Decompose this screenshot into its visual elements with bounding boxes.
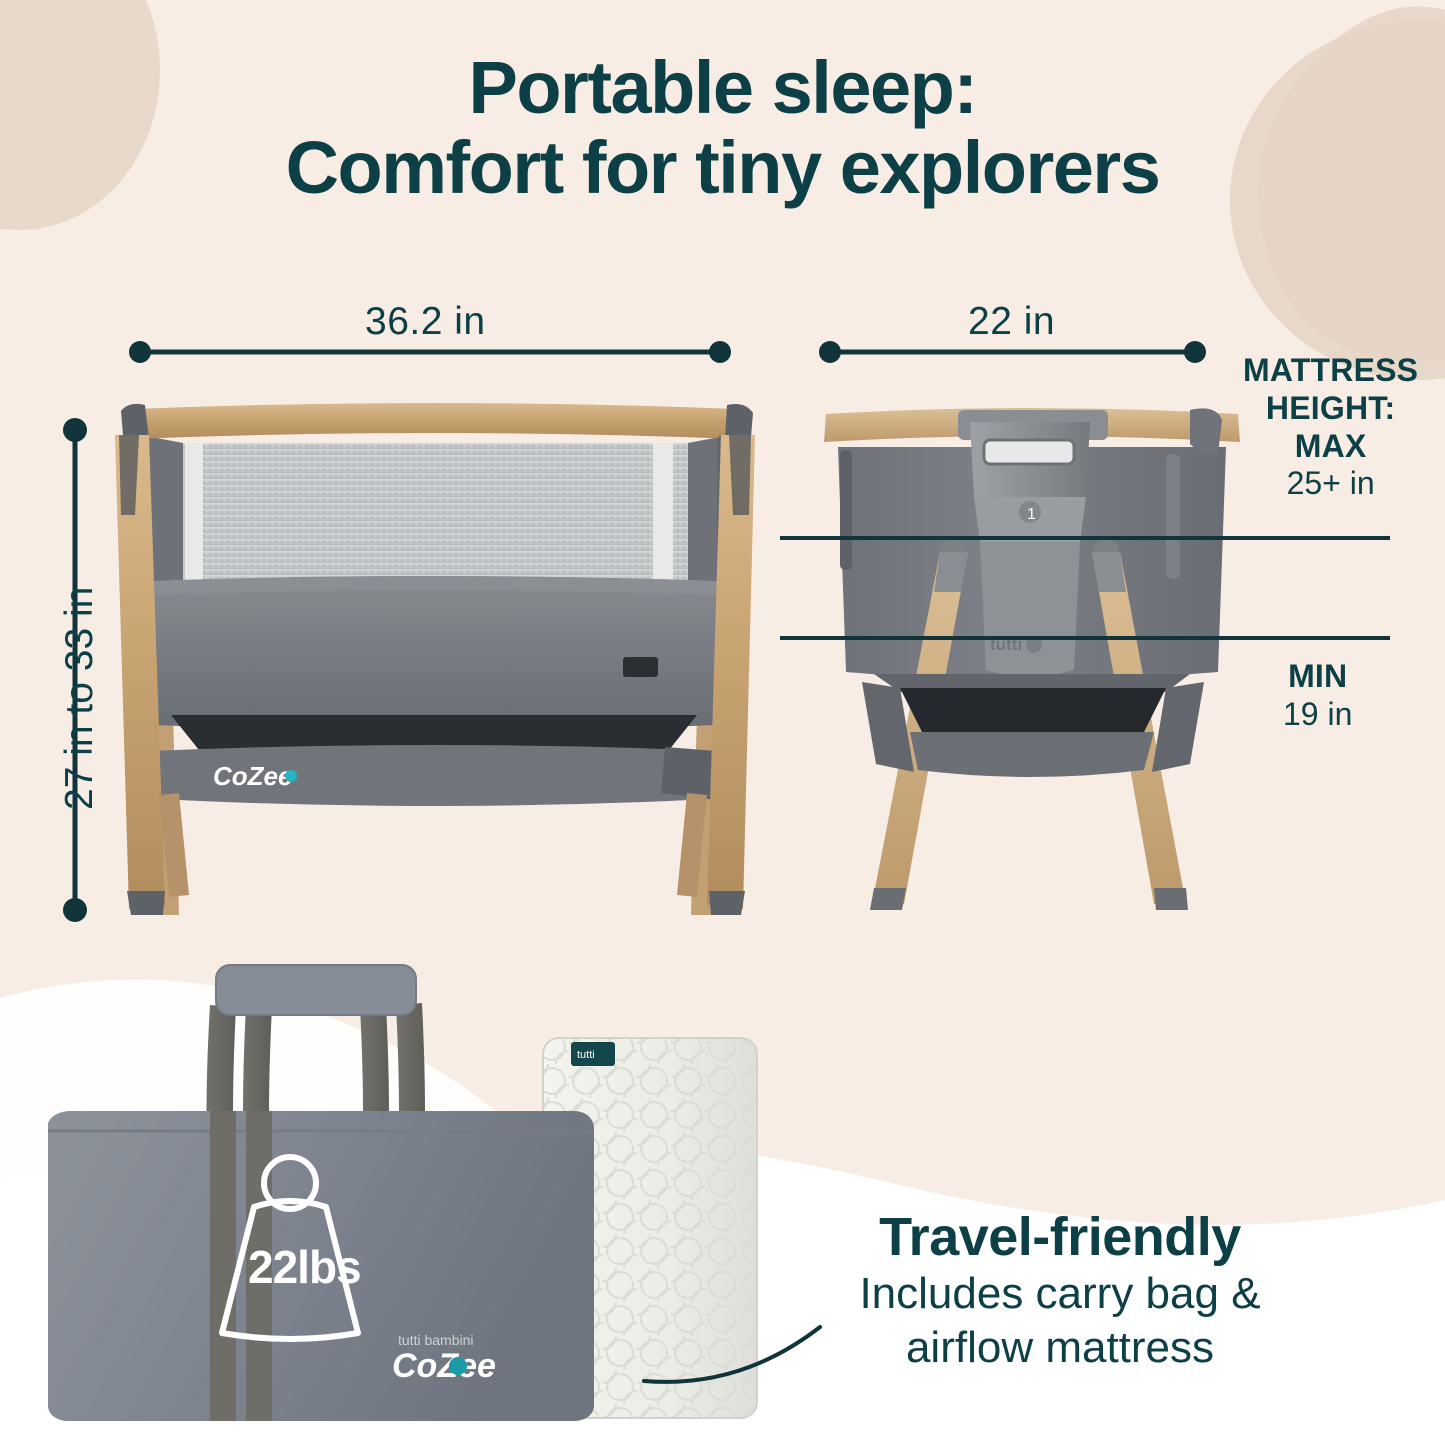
top-dimension-lines [0, 280, 1445, 400]
basket-base [910, 732, 1154, 777]
mattress-height-max-callout: MATTRESS HEIGHT: MAX 25+ in [1243, 352, 1418, 503]
release-handle [984, 440, 1074, 464]
strap-body-left-outer [210, 1111, 236, 1421]
headline-line-1: Portable sleep: [0, 48, 1445, 128]
strap-left [185, 443, 203, 583]
mattress-min-label: MIN [1283, 658, 1352, 696]
depth-endpoint-right [1184, 341, 1206, 363]
width-dimension-label: 36.2 in [365, 300, 486, 344]
headline-line-2: Comfort for tiny explorers [0, 128, 1445, 208]
travel-line-1: Includes carry bag & [800, 1267, 1320, 1321]
carry-bag: tutti bambini CoZee [40, 945, 600, 1435]
cozee-logo-bag: CoZee [392, 1347, 496, 1385]
height-endpoint-top [63, 418, 87, 442]
crib-front-view: CoZee [105, 395, 765, 925]
cozee-logo-bag-dot [449, 1357, 467, 1375]
side-foot-left [870, 888, 906, 910]
fabric-body [151, 576, 717, 732]
page-title: Portable sleep: Comfort for tiny explore… [0, 48, 1445, 208]
travel-friendly-block: Travel-friendly Includes carry bag & air… [800, 1208, 1320, 1375]
height-endpoint-bottom [63, 898, 87, 922]
tutti-logo-bag: tutti bambini [398, 1332, 473, 1348]
strap-right [653, 443, 673, 583]
width-endpoint-right [709, 341, 731, 363]
width-endpoint-left [129, 341, 151, 363]
depth-endpoint-left [819, 341, 841, 363]
top-rail-wood [133, 403, 739, 439]
rail-cap-left [121, 404, 149, 439]
mattress-max-label: MAX [1243, 428, 1418, 466]
mattress-height-lines [770, 520, 1410, 660]
foot-left [127, 891, 165, 915]
mattress-label-line2: HEIGHT: [1243, 390, 1418, 428]
mattress-max-value: 25+ in [1243, 465, 1418, 503]
handle-grip [216, 965, 416, 1015]
weight-badge-value: 22lbs [248, 1240, 361, 1294]
brand-tag [623, 657, 658, 677]
shelf-right-fold [661, 747, 717, 799]
cozee-logo-dot [285, 770, 297, 782]
height-dimension-label: 27 in to 33 in [58, 587, 102, 810]
leader-curve [644, 1327, 820, 1382]
depth-dimension-label: 22 in [968, 300, 1055, 344]
travel-title: Travel-friendly [800, 1208, 1320, 1267]
mattress-label-line1: MATTRESS [1243, 352, 1418, 390]
foot-right [709, 891, 745, 915]
mesh-panel [183, 443, 688, 588]
travel-line-2: airflow mattress [800, 1321, 1320, 1375]
side-foot-right [1154, 888, 1188, 910]
mattress-height-min-callout: MIN 19 in [1283, 658, 1352, 734]
side-rail-cap-right [1190, 408, 1222, 454]
mattress-min-value: 19 in [1283, 696, 1352, 734]
cozee-logo-front: CoZee [213, 761, 292, 791]
rail-cap-right [725, 404, 753, 439]
